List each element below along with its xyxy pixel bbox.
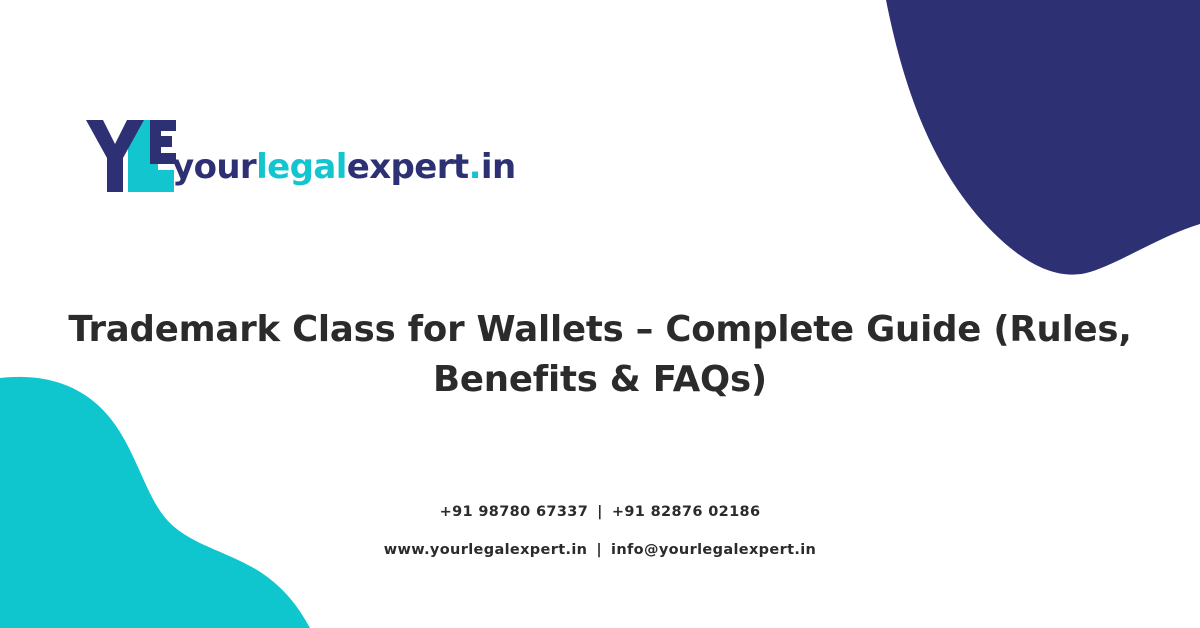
wordmark-your: your [172, 147, 256, 187]
yle-monogram-icon [84, 116, 176, 196]
phone-separator: | [588, 505, 612, 520]
page-title-line-1: Trademark Class for Wallets – Complete G… [68, 309, 1131, 400]
brand-wordmark: yourlegalexpert.in [172, 150, 516, 184]
contact-web-line: www.yourlegalexpert.in|info@yourlegalexp… [0, 543, 1200, 558]
phone-number-primary[interactable]: +91 98780 67337 [440, 504, 589, 520]
wordmark-dot: . [469, 147, 481, 187]
wordmark-expert: expert [347, 147, 469, 187]
top-right-navy-blob [886, 0, 1200, 275]
page-title: Trademark Class for Wallets – Complete G… [50, 305, 1150, 406]
bottom-left-teal-blob [0, 377, 310, 628]
web-separator: | [587, 543, 611, 558]
wordmark-legal: legal [256, 147, 347, 187]
contact-phones-line: +91 98780 67337|+91 82876 02186 [0, 505, 1200, 520]
website-link[interactable]: www.yourlegalexpert.in [384, 542, 588, 558]
banner-canvas: yourlegalexpert.in Trademark Class for W… [0, 0, 1200, 628]
email-link[interactable]: info@yourlegalexpert.in [611, 542, 816, 558]
contact-block: +91 98780 67337|+91 82876 02186 www.your… [0, 505, 1200, 557]
brand-logo[interactable]: yourlegalexpert.in [84, 112, 520, 196]
wordmark-in: in [481, 147, 516, 187]
page-title-line-2: FAQs) [653, 359, 767, 400]
phone-number-secondary[interactable]: +91 82876 02186 [612, 504, 761, 520]
